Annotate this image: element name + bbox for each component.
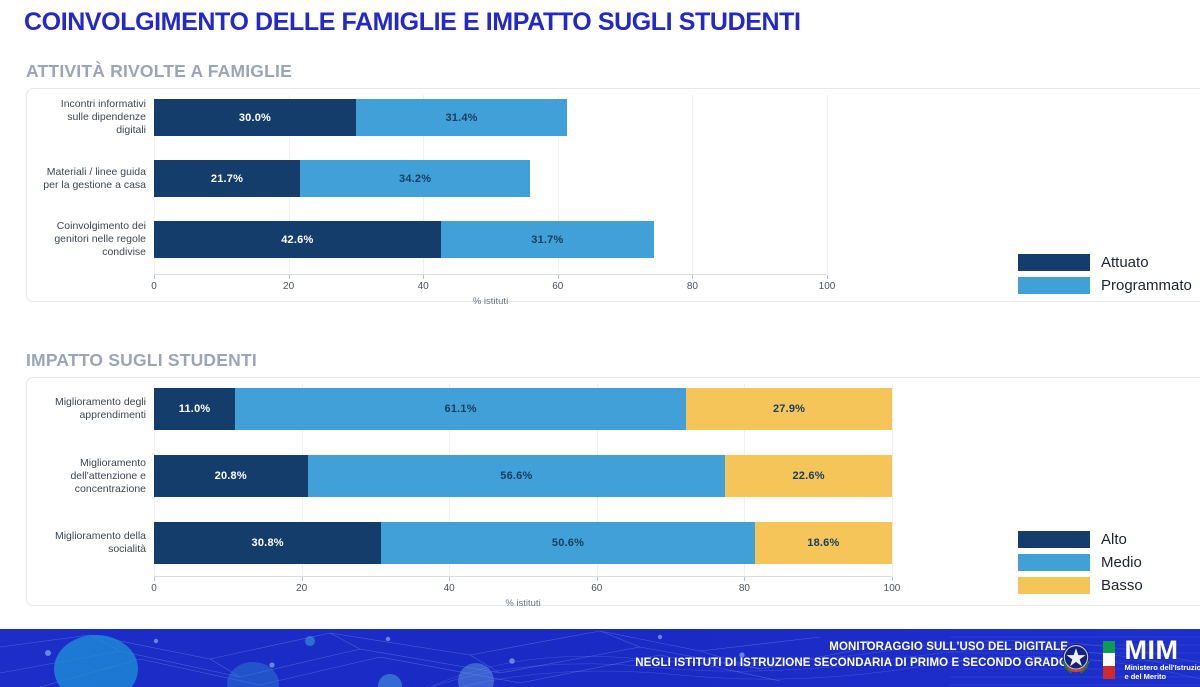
bar-segment: 30.8% — [154, 522, 381, 564]
mim-subtitle-2: e del Merito — [1124, 672, 1200, 681]
bar-value-label: 22.6% — [792, 470, 824, 482]
chart-plot-studenti: Miglioramento degli apprendimenti11.0%61… — [27, 378, 1200, 605]
x-axis-tick — [289, 275, 290, 279]
bar-segment: 31.7% — [441, 221, 654, 258]
chart-legend: AltoMedioBasso — [1018, 530, 1143, 595]
x-axis-tick-label: 0 — [151, 583, 157, 594]
category-label: Materiali / linee guida per la gestione … — [26, 166, 146, 192]
x-axis-tick-label: 20 — [283, 281, 294, 292]
bar-value-label: 20.8% — [215, 470, 247, 482]
legend-label: Attuato — [1101, 254, 1149, 271]
footer-line-2: NEGLI ISTITUTI DI ISTRUZIONE SECONDARIA … — [635, 655, 1068, 671]
gridline — [892, 384, 893, 576]
bar-segment: 50.6% — [381, 522, 754, 564]
x-axis-tick-label: 20 — [296, 583, 307, 594]
x-axis-tick — [154, 577, 155, 581]
x-axis-tick-label: 0 — [151, 281, 157, 292]
legend-swatch — [1018, 254, 1090, 271]
x-axis-tick-label: 100 — [884, 583, 901, 594]
legend-item-basso[interactable]: Basso — [1018, 576, 1143, 595]
x-axis-tick — [744, 577, 745, 581]
bar-value-label: 30.8% — [252, 537, 284, 549]
mim-logo: MIM Ministero dell'Istruzione e del Meri… — [1058, 638, 1200, 681]
footer-bar: MONITORAGGIO SULL'USO DEL DIGITALE NEGLI… — [0, 629, 1200, 687]
gridline — [692, 95, 693, 274]
legend-label: Medio — [1101, 554, 1142, 571]
legend-swatch — [1018, 531, 1090, 548]
republic-emblem-icon — [1058, 641, 1094, 679]
footer-caption: MONITORAGGIO SULL'USO DEL DIGITALE NEGLI… — [635, 639, 1068, 671]
bar-segment: 61.1% — [235, 388, 686, 430]
legend-swatch — [1018, 554, 1090, 571]
mim-acronym: MIM — [1124, 638, 1200, 663]
mim-wordmark: MIM Ministero dell'Istruzione e del Meri… — [1124, 638, 1200, 681]
page-title: COINVOLGIMENTO DELLE FAMIGLIE E IMPATTO … — [24, 8, 801, 37]
bar-segment: 11.0% — [154, 388, 235, 430]
x-axis-title: % istituti — [505, 598, 540, 609]
bar-value-label: 50.6% — [552, 537, 584, 549]
x-axis-tick — [302, 577, 303, 581]
x-axis-tick-label: 80 — [739, 583, 750, 594]
mim-subtitle-1: Ministero dell'Istruzione — [1124, 663, 1200, 672]
x-axis-tick-label: 40 — [444, 583, 455, 594]
legend-label: Alto — [1101, 531, 1127, 548]
legend-item-medio[interactable]: Medio — [1018, 553, 1143, 572]
x-axis-title: % istituti — [473, 296, 508, 307]
bar-value-label: 42.6% — [281, 234, 313, 246]
bar-value-label: 31.7% — [531, 234, 563, 246]
bar-segment: 56.6% — [308, 455, 726, 497]
category-label: Coinvolgimento dei genitori nelle regole… — [26, 220, 146, 259]
bar-value-label: 21.7% — [211, 173, 243, 185]
bar-segment: 27.9% — [686, 388, 892, 430]
legend-item-attuato[interactable]: Attuato — [1018, 253, 1192, 272]
section-heading-studenti: IMPATTO SUGLI STUDENTI — [26, 350, 257, 371]
bar-value-label: 61.1% — [445, 403, 477, 415]
x-axis-tick-label: 60 — [591, 583, 602, 594]
chart-legend: AttuatoProgrammato — [1018, 253, 1192, 295]
bar-value-label: 56.6% — [500, 470, 532, 482]
x-axis-line — [154, 274, 827, 275]
legend-swatch — [1018, 577, 1090, 594]
bar-segment: 20.8% — [154, 455, 308, 497]
x-axis-tick — [892, 577, 893, 581]
italian-flag-icon — [1103, 641, 1115, 679]
slide-root: COINVOLGIMENTO DELLE FAMIGLIE E IMPATTO … — [0, 0, 1200, 687]
x-axis-tick — [597, 577, 598, 581]
x-axis-tick — [558, 275, 559, 279]
bar-segment: 34.2% — [300, 160, 530, 197]
legend-swatch — [1018, 277, 1090, 294]
x-axis-tick — [154, 275, 155, 279]
x-axis-line — [154, 576, 892, 577]
bar-value-label: 18.6% — [807, 537, 839, 549]
bar-segment: 30.0% — [154, 99, 356, 136]
x-axis-tick-label: 80 — [687, 281, 698, 292]
legend-item-alto[interactable]: Alto — [1018, 530, 1143, 549]
category-label: Incontri informativi sulle dipendenze di… — [26, 98, 146, 137]
x-axis-tick — [449, 577, 450, 581]
category-label: Miglioramento degli apprendimenti — [21, 396, 146, 422]
category-label: Miglioramento dell'attenzione e concentr… — [21, 457, 146, 496]
chart-plot-famiglie: Incontri informativi sulle dipendenze di… — [27, 89, 1200, 301]
x-axis-tick-label: 40 — [418, 281, 429, 292]
bar-value-label: 31.4% — [445, 112, 477, 124]
x-axis-tick — [692, 275, 693, 279]
x-axis-tick — [423, 275, 424, 279]
legend-label: Programmato — [1101, 277, 1192, 294]
bar-segment: 21.7% — [154, 160, 300, 197]
legend-item-programmato[interactable]: Programmato — [1018, 276, 1192, 295]
section-heading-famiglie: ATTIVITÀ RIVOLTE A FAMIGLIE — [26, 61, 292, 82]
x-axis-tick-label: 100 — [819, 281, 836, 292]
bar-segment: 22.6% — [725, 455, 892, 497]
bar-value-label: 27.9% — [773, 403, 805, 415]
bar-segment: 42.6% — [154, 221, 441, 258]
chart-card-famiglie: Incontri informativi sulle dipendenze di… — [26, 88, 1200, 302]
bar-segment: 18.6% — [755, 522, 892, 564]
bar-value-label: 34.2% — [399, 173, 431, 185]
chart-card-studenti: Miglioramento degli apprendimenti11.0%61… — [26, 377, 1200, 606]
bar-value-label: 30.0% — [239, 112, 271, 124]
x-axis-tick-label: 60 — [552, 281, 563, 292]
gridline — [827, 95, 828, 274]
bar-segment: 31.4% — [356, 99, 567, 136]
footer-line-1: MONITORAGGIO SULL'USO DEL DIGITALE — [635, 639, 1068, 655]
category-label: Miglioramento della socialità — [21, 530, 146, 556]
x-axis-tick — [827, 275, 828, 279]
bar-value-label: 11.0% — [179, 403, 211, 415]
legend-label: Basso — [1101, 577, 1143, 594]
